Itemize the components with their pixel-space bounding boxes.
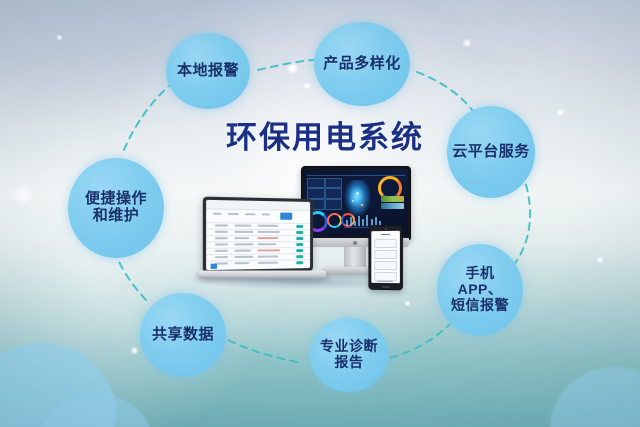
background-vignette [0, 0, 640, 427]
poster-canvas: 环保用电系统 本地报警 产品多样化 云平台服务 手机APP、 短信报警 专业诊断… [0, 0, 640, 427]
